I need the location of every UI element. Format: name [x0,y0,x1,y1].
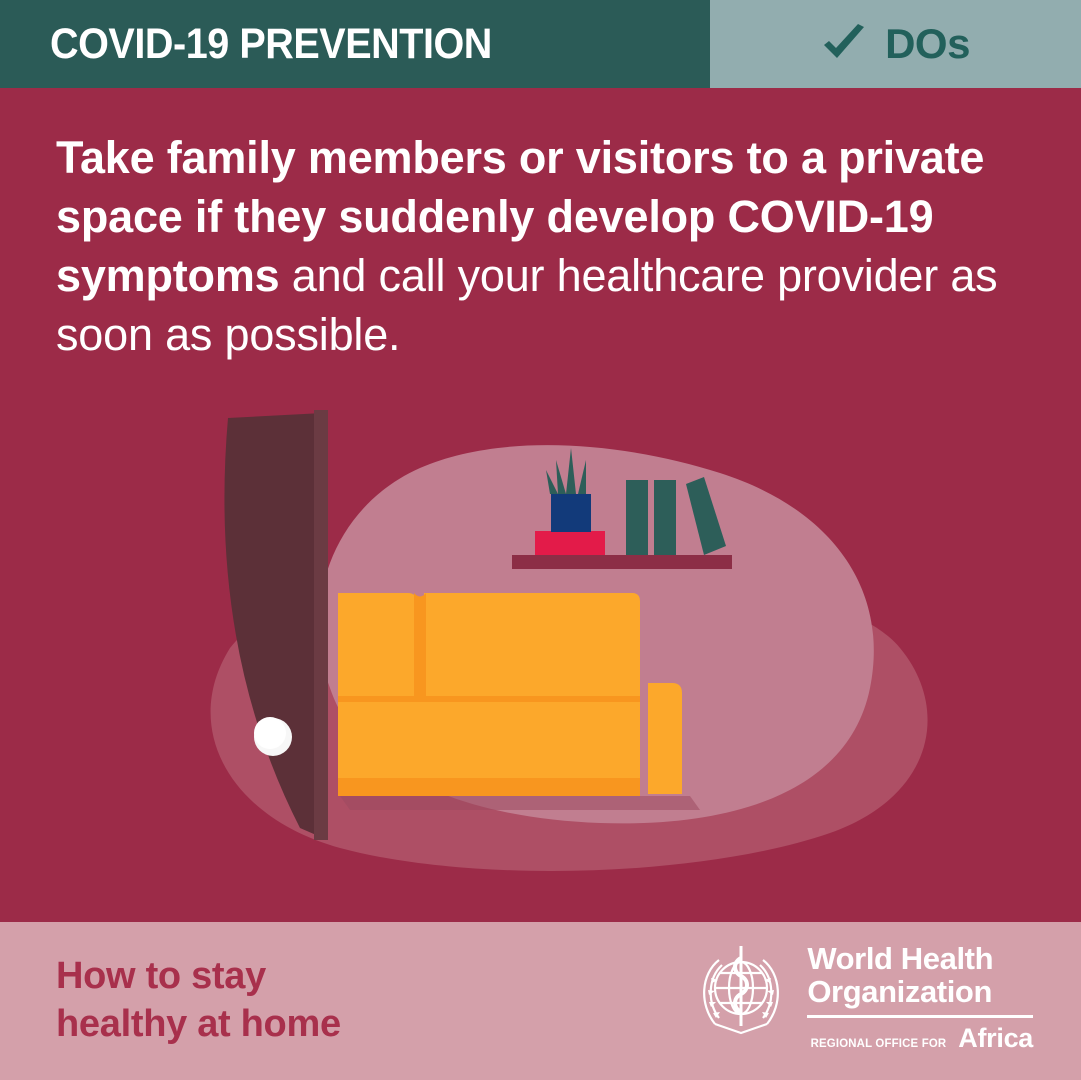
who-region-name: Africa [958,1023,1033,1054]
tagline-line-2: healthy at home [56,1000,341,1048]
teal-book-2 [654,480,676,555]
sofa-seat-seam [338,696,640,702]
red-book [535,531,605,555]
who-wordmark: World Health Organization REGIONAL OFFIC… [807,938,1033,1054]
check-icon [821,24,867,64]
dos-label: DOs [885,20,970,68]
sofa-cushion-gap [414,593,426,700]
who-emblem-icon [689,938,793,1042]
tagline-line-1: How to stay [56,952,341,1000]
headline-text: Take family members or visitors to a pri… [56,128,1016,364]
who-region-prefix: REGIONAL OFFICE FOR [811,1036,947,1050]
sofa-base [338,778,640,796]
poster-header: COVID-19 PREVENTION DOs [0,0,1081,88]
who-logo-rule [807,1015,1033,1018]
poster-footer: How to stay healthy at home [0,918,1081,1080]
door-edge [314,410,328,840]
doorknob-highlight [254,717,286,749]
footer-tagline: How to stay healthy at home [56,952,341,1048]
header-title-bar: COVID-19 PREVENTION [0,0,710,88]
sofa-back-cushion-right [424,593,640,700]
sofa-back-cushion-left [338,593,416,700]
sofa-seat [338,700,640,788]
footer-divider [0,918,1081,922]
plant-pot [551,494,591,532]
wall-shelf [512,555,732,569]
who-region-line: REGIONAL OFFICE FOR Africa [807,1023,1033,1054]
who-name-line-2: Organization [807,975,1033,1008]
who-logo: World Health Organization REGIONAL OFFIC… [689,938,1033,1054]
dos-badge: DOs [710,0,1081,88]
who-name-line-1: World Health [807,942,1033,975]
covid-prevention-poster: COVID-19 PREVENTION DOs Take family memb… [0,0,1081,1080]
sofa-armrest-right [648,683,682,794]
sofa-shadow [340,796,700,810]
teal-book-1 [626,480,648,555]
page-title: COVID-19 PREVENTION [50,20,492,69]
